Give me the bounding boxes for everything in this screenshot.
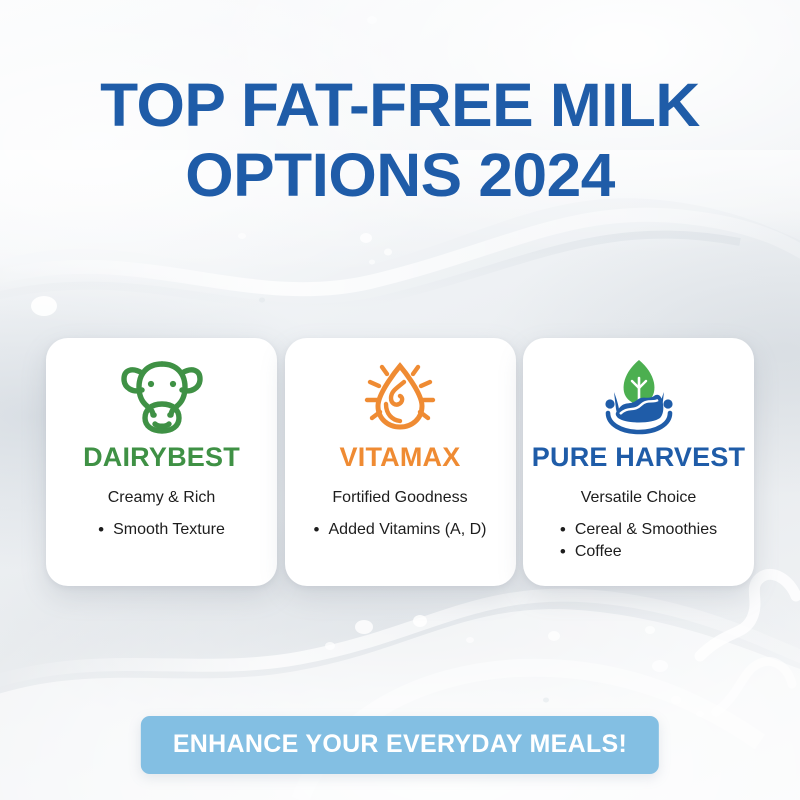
brand-name: DAIRYBEST	[83, 442, 240, 473]
list-item: Coffee	[560, 543, 717, 561]
list-item: Cereal & Smoothies	[560, 521, 717, 539]
card-feature-list: Cereal & Smoothies Coffee	[560, 521, 717, 565]
page-title: Top Fat-Free Milk Options 2024	[0, 76, 800, 206]
list-item: Smooth Texture	[98, 521, 225, 539]
cta-label: Enhance Your Everyday Meals!	[173, 730, 627, 758]
cow-head-icon	[120, 354, 204, 438]
card-tagline: Versatile Choice	[581, 489, 697, 507]
vitamin-droplet-sun-icon	[358, 354, 442, 438]
product-card-row: DAIRYBEST Creamy & Rich Smooth Texture	[46, 338, 754, 586]
leaf-splash-icon	[594, 354, 684, 438]
product-card-dairybest[interactable]: DAIRYBEST Creamy & Rich Smooth Texture	[46, 338, 277, 586]
card-feature-list: Smooth Texture	[98, 521, 225, 543]
poster-canvas: Top Fat-Free Milk Options 2024	[0, 0, 800, 800]
card-feature-list: Added Vitamins (A, D)	[314, 521, 487, 543]
product-card-pure-harvest[interactable]: PURE HARVEST Versatile Choice Cereal & S…	[523, 338, 754, 586]
page-title-line-2: Options 2024	[0, 146, 800, 206]
card-tagline: Fortified Goodness	[332, 489, 467, 507]
page-title-line-1: Top Fat-Free Milk	[100, 71, 700, 139]
card-tagline: Creamy & Rich	[108, 489, 216, 507]
brand-name: VITAMAX	[340, 442, 461, 473]
cta-banner[interactable]: Enhance Your Everyday Meals!	[141, 716, 659, 774]
list-item: Added Vitamins (A, D)	[314, 521, 487, 539]
product-card-vitamax[interactable]: VITAMAX Fortified Goodness Added Vitamin…	[285, 338, 516, 586]
brand-name: PURE HARVEST	[532, 442, 745, 473]
